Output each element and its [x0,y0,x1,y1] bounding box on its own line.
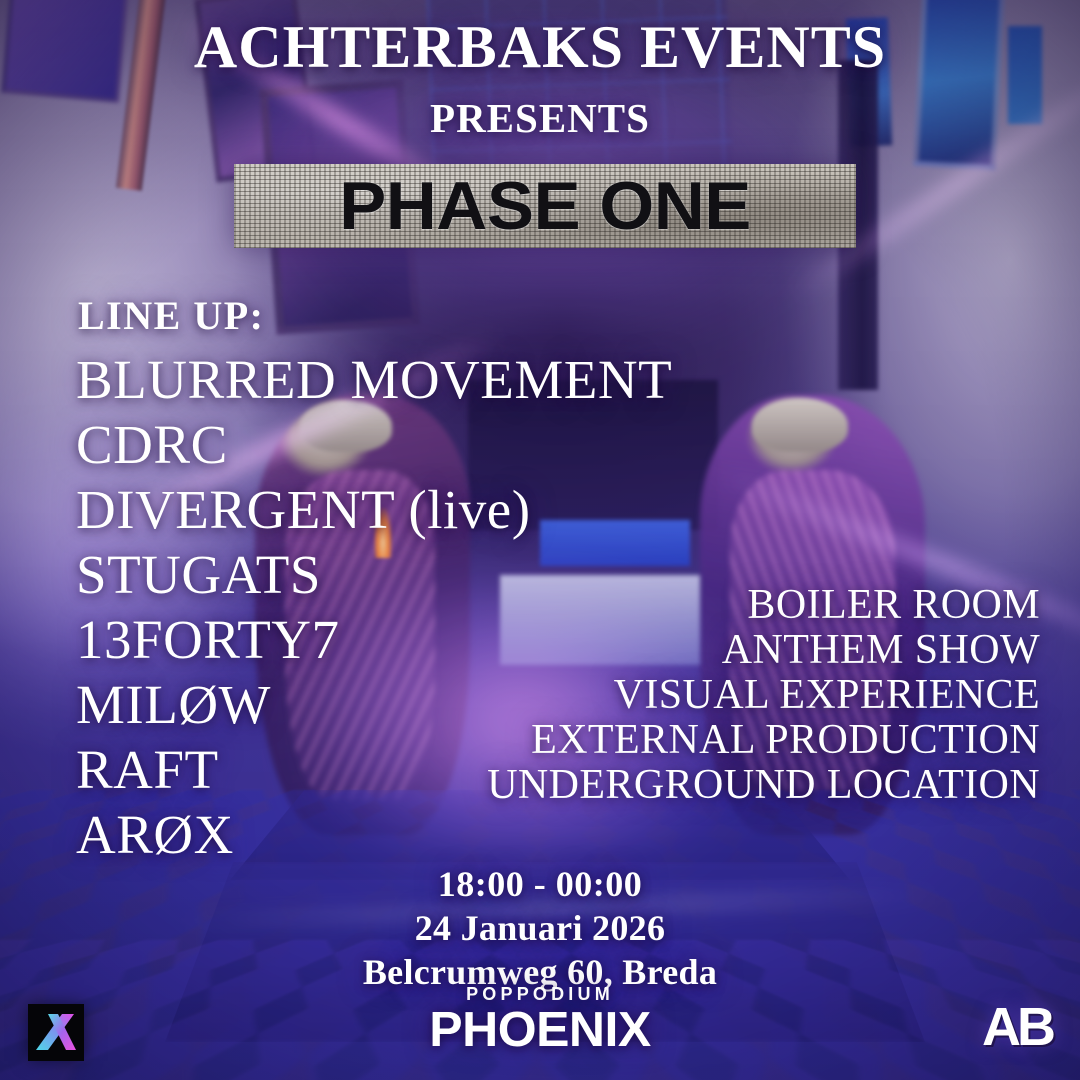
venue-kicker: POPPODIUM [0,984,1080,1004]
lineup-item: DIVERGENT (live) [76,477,672,542]
event-time: 18:00 - 00:00 [0,862,1080,906]
venue-logo: POPPODIUM PHOENIX [0,984,1080,1056]
poster-content: ACHTERBAKS EVENTS PRESENTS PHASE ONE LIN… [0,0,1080,1080]
organizer-title: ACHTERBAKS EVENTS [0,17,1080,77]
lineup-item: BLURRED MOVEMENT [76,347,672,412]
feature-item: UNDERGROUND LOCATION [487,763,1040,808]
presents-label: PRESENTS [0,98,1080,139]
features-list: BOILER ROOM ANTHEM SHOW VISUAL EXPERIENC… [487,583,1040,808]
event-title-band: PHASE ONE [234,164,856,248]
ab-brand-logo: AB [982,996,1052,1058]
lineup-item: CDRC [76,412,672,477]
lineup-label: LINE UP: [78,292,264,339]
event-date: 24 Januari 2026 [0,906,1080,950]
event-details: 18:00 - 00:00 24 Januari 2026 Belcrumweg… [0,862,1080,994]
feature-item: VISUAL EXPERIENCE [487,673,1040,718]
lineup-item: ARØX [76,802,672,867]
event-title: PHASE ONE [339,167,751,245]
feature-item: EXTERNAL PRODUCTION [487,718,1040,763]
venue-name: PHOENIX [0,1004,1080,1056]
feature-item: BOILER ROOM [487,583,1040,628]
event-poster: ACHTERBAKS EVENTS PRESENTS PHASE ONE LIN… [0,0,1080,1080]
x-logo-icon [28,1004,84,1061]
feature-item: ANTHEM SHOW [487,628,1040,673]
x-brand-logo [28,1004,84,1061]
